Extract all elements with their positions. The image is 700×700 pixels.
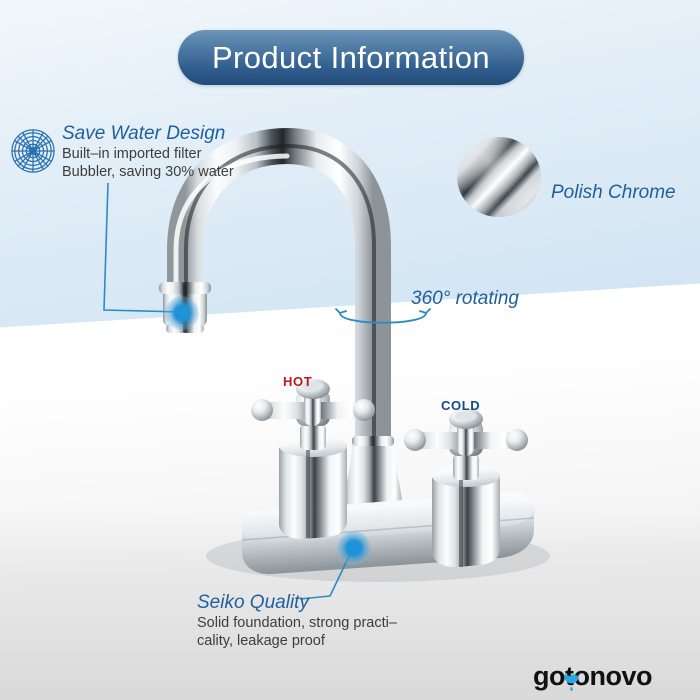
chrome-sphere-swatch bbox=[456, 136, 542, 218]
aerator-grid-icon bbox=[10, 128, 56, 174]
marker-dot-aerator bbox=[165, 296, 199, 330]
rotation-arrow-icon bbox=[328, 300, 438, 336]
label-cold: COLD bbox=[441, 398, 480, 413]
callout-seiko-quality-heading: Seiko Quality bbox=[197, 592, 397, 614]
marker-dot-deck-plate bbox=[337, 531, 371, 565]
callout-save-water-body: Built–in imported filter Bubbler, saving… bbox=[62, 145, 234, 181]
label-hot: HOT bbox=[283, 374, 312, 389]
callout-polish-chrome: Polish Chrome bbox=[551, 182, 676, 204]
callout-polish-chrome-heading: Polish Chrome bbox=[551, 182, 676, 203]
brand-logo: gotonovo bbox=[533, 659, 673, 693]
callout-seiko-quality-body: Solid foundation, strong practi– cality,… bbox=[197, 614, 397, 650]
callout-save-water-heading: Save Water Design bbox=[62, 123, 234, 145]
brand-logo-text: gotonovo bbox=[533, 661, 652, 691]
callout-seiko-quality: Seiko Quality Solid foundation, strong p… bbox=[197, 592, 397, 650]
faucet-column-base bbox=[344, 436, 402, 506]
product-information-infographic: Product Information bbox=[0, 0, 700, 700]
brand-logo-mark: gotonovo bbox=[533, 659, 673, 693]
callout-save-water: Save Water Design Built–in imported filt… bbox=[62, 123, 234, 181]
